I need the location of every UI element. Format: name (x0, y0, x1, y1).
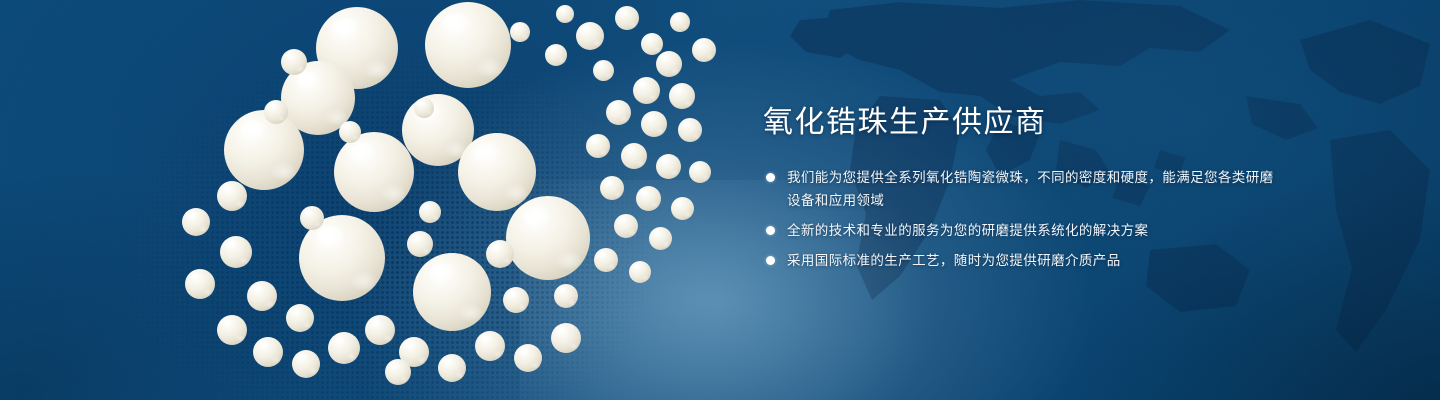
ceramic-bead (438, 354, 466, 382)
ceramic-bead (656, 154, 681, 179)
ceramic-bead (556, 5, 574, 23)
bullet-marker-icon (766, 226, 775, 235)
ceramic-bead (385, 359, 411, 385)
ceramic-bead (678, 118, 702, 142)
ceramic-bead (300, 206, 324, 230)
ceramic-bead (264, 100, 288, 124)
feature-bullet-text: 采用国际标准的生产工艺，随时为您提供研磨介质产品 (787, 253, 1121, 268)
ceramic-bead (475, 331, 505, 361)
ceramic-bead (182, 208, 210, 236)
feature-bullet-text: 我们能为您提供全系列氧化锆陶瓷微珠，不同的密度和硬度，能满足您各类研磨设备和应用… (787, 170, 1274, 208)
feature-bullet: 采用国际标准的生产工艺，随时为您提供研磨介质产品 (763, 249, 1283, 272)
feature-bullet: 全新的技术和专业的服务为您的研磨提供系统化的解决方案 (763, 219, 1283, 242)
banner-headline: 氧化锆珠生产供应商 (763, 104, 1283, 142)
ceramic-bead (247, 281, 277, 311)
ceramic-bead (514, 344, 542, 372)
ceramic-bead (656, 51, 682, 77)
ceramic-bead (407, 231, 433, 257)
ceramic-bead (641, 33, 663, 55)
ceramic-bead (458, 133, 536, 211)
feature-bullet-text: 全新的技术和专业的服务为您的研磨提供系统化的解决方案 (787, 223, 1148, 238)
ceramic-bead (545, 44, 567, 66)
bullet-marker-icon (766, 173, 775, 182)
ceramic-bead (600, 176, 624, 200)
feature-bullet: 我们能为您提供全系列氧化锆陶瓷微珠，不同的密度和硬度，能满足您各类研磨设备和应用… (763, 166, 1283, 212)
ceramic-bead (185, 269, 215, 299)
ceramic-bead (641, 111, 667, 137)
ceramic-bead (636, 186, 661, 211)
ceramic-bead (621, 143, 647, 169)
ceramic-bead (614, 214, 638, 238)
ceramic-bead (292, 350, 320, 378)
ceramic-bead (629, 261, 651, 283)
ceramic-bead (419, 201, 441, 223)
ceramic-bead (217, 315, 247, 345)
ceramic-bead (551, 323, 581, 353)
ceramic-bead (554, 284, 578, 308)
banner-feature-list: 我们能为您提供全系列氧化锆陶瓷微珠，不同的密度和硬度，能满足您各类研磨设备和应用… (763, 166, 1283, 272)
ceramic-bead (649, 227, 672, 250)
ceramic-bead (510, 22, 530, 42)
ceramic-bead (414, 98, 434, 118)
banner-copy: 氧化锆珠生产供应商 我们能为您提供全系列氧化锆陶瓷微珠，不同的密度和硬度，能满足… (763, 104, 1283, 272)
ceramic-bead (593, 60, 614, 81)
bullet-marker-icon (766, 256, 775, 265)
ceramic-bead (670, 12, 690, 32)
ceramic-bead (253, 337, 283, 367)
ceramic-bead (486, 240, 514, 268)
ceramic-bead (339, 121, 361, 143)
ceramic-bead (689, 161, 711, 183)
ceramic-bead (334, 132, 414, 212)
ceramic-bead (413, 253, 491, 331)
ceramic-bead (586, 134, 610, 158)
ceramic-bead (503, 287, 529, 313)
ceramic-bead (606, 100, 631, 125)
ceramic-bead (506, 196, 590, 280)
ceramic-bead (615, 6, 639, 30)
ceramic-bead (281, 49, 307, 75)
ceramic-bead (576, 22, 604, 50)
ceramic-bead (217, 181, 247, 211)
ceramic-bead (425, 2, 511, 88)
ceramic-bead (286, 304, 314, 332)
ceramic-bead (594, 248, 618, 272)
ceramic-bead (328, 332, 360, 364)
ceramic-bead (692, 38, 716, 62)
hero-banner: 氧化锆珠生产供应商 我们能为您提供全系列氧化锆陶瓷微珠，不同的密度和硬度，能满足… (0, 0, 1440, 400)
ceramic-bead (633, 77, 660, 104)
ceramic-bead (671, 197, 694, 220)
ceramic-bead (669, 83, 695, 109)
ceramic-bead (220, 236, 252, 268)
ceramic-bead (224, 110, 304, 190)
ceramic-bead (365, 315, 395, 345)
